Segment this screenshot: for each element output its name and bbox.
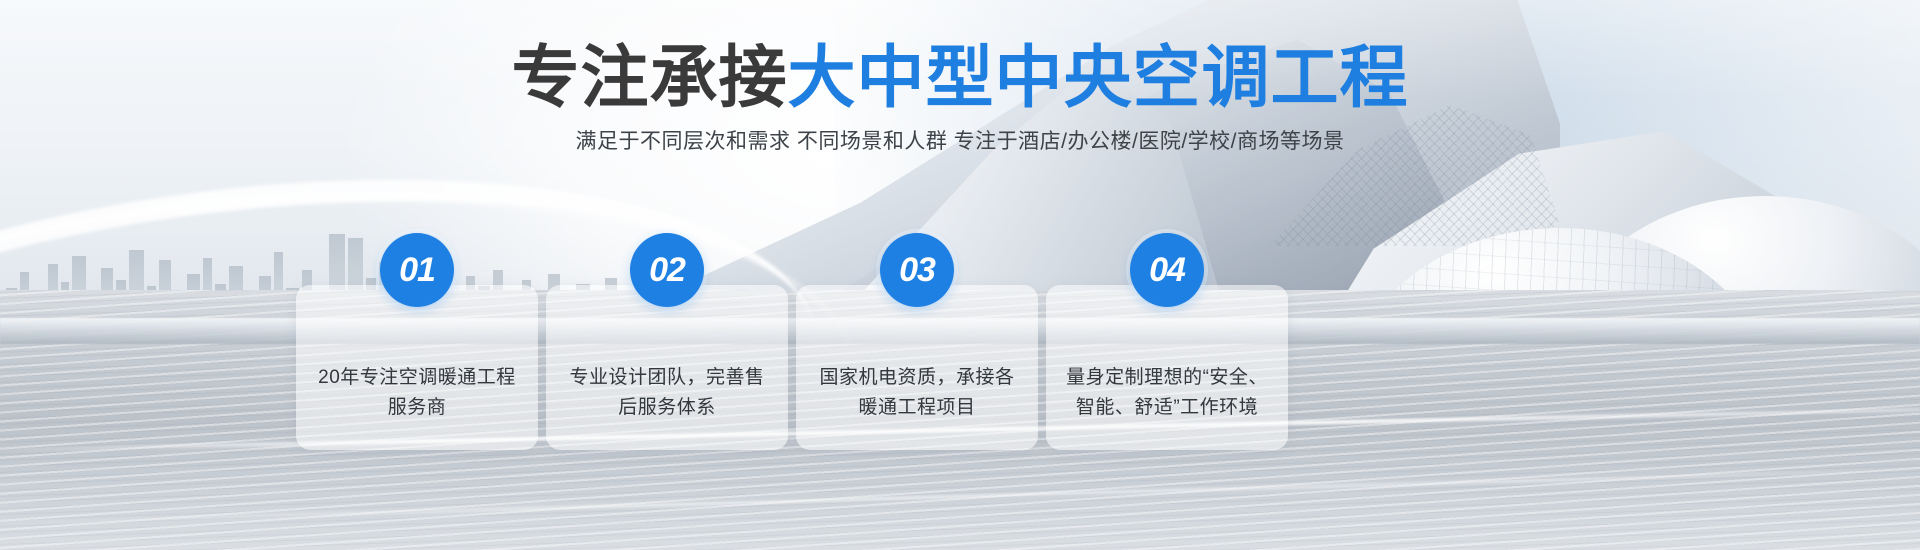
card-description: 专业设计团队，完善售后服务体系 xyxy=(560,363,774,424)
card-number-badge: 02 xyxy=(630,233,704,307)
card-number-label: 01 xyxy=(399,251,435,290)
card-description: 20年专注空调暖通工程服务商 xyxy=(310,363,524,424)
card-number-badge: 03 xyxy=(880,233,954,307)
feature-card-list: 01 20年专注空调暖通工程服务商 02 专业设计团队，完善售后服务体系 03 … xyxy=(296,225,1584,450)
banner-headline: 专注承接大中型中央空调工程 xyxy=(0,44,1920,112)
card-number-label: 03 xyxy=(899,251,935,290)
feature-card[interactable]: 01 20年专注空调暖通工程服务商 xyxy=(296,285,538,450)
feature-card[interactable]: 03 国家机电资质，承接各暖通工程项目 xyxy=(796,285,1038,450)
card-description: 量身定制理想的“安全、智能、舒适”工作环境 xyxy=(1060,363,1274,424)
card-number-label: 02 xyxy=(649,251,685,290)
banner-content: 专注承接大中型中央空调工程 满足于不同层次和需求 不同场景和人群 专注于酒店/办… xyxy=(0,0,1920,550)
feature-card[interactable]: 04 量身定制理想的“安全、智能、舒适”工作环境 xyxy=(1046,285,1288,450)
hero-banner: 专注承接大中型中央空调工程 满足于不同层次和需求 不同场景和人群 专注于酒店/办… xyxy=(0,0,1920,550)
feature-card[interactable]: 02 专业设计团队，完善售后服务体系 xyxy=(546,285,788,450)
headline-dark-part: 专注承接 xyxy=(511,40,787,116)
card-number-badge: 01 xyxy=(380,233,454,307)
card-number-badge: 04 xyxy=(1130,233,1204,307)
card-description: 国家机电资质，承接各暖通工程项目 xyxy=(810,363,1024,424)
card-number-label: 04 xyxy=(1149,251,1185,290)
banner-subline: 满足于不同层次和需求 不同场景和人群 专注于酒店/办公楼/医院/学校/商场等场景 xyxy=(0,127,1920,156)
headline-accent-part: 大中型中央空调工程 xyxy=(788,40,1409,116)
